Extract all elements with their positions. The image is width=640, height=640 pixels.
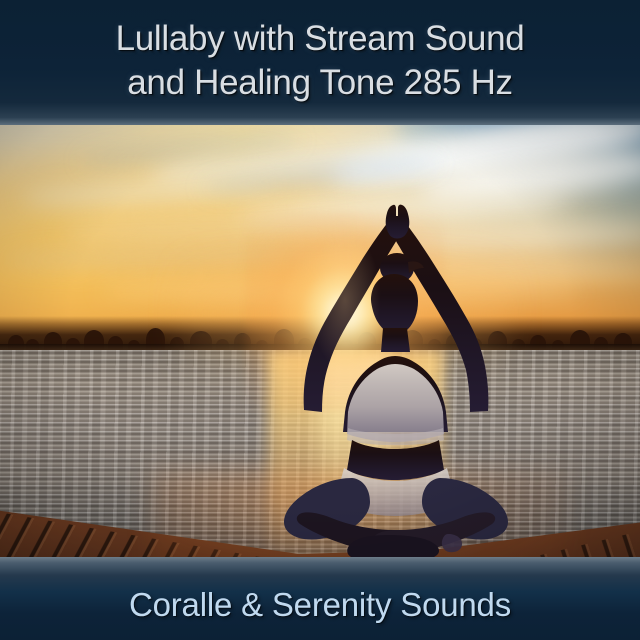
artist-name: Coralle & Serenity Sounds <box>129 586 511 624</box>
artist-banner: Coralle & Serenity Sounds <box>0 557 640 640</box>
album-title-line-1: Lullaby with Stream Sound <box>116 17 525 61</box>
album-cover: Lullaby with Stream Sound and Healing To… <box>0 0 640 640</box>
album-title-line-2: and Healing Tone 285 Hz <box>127 61 513 105</box>
title-banner: Lullaby with Stream Sound and Healing To… <box>0 0 640 125</box>
